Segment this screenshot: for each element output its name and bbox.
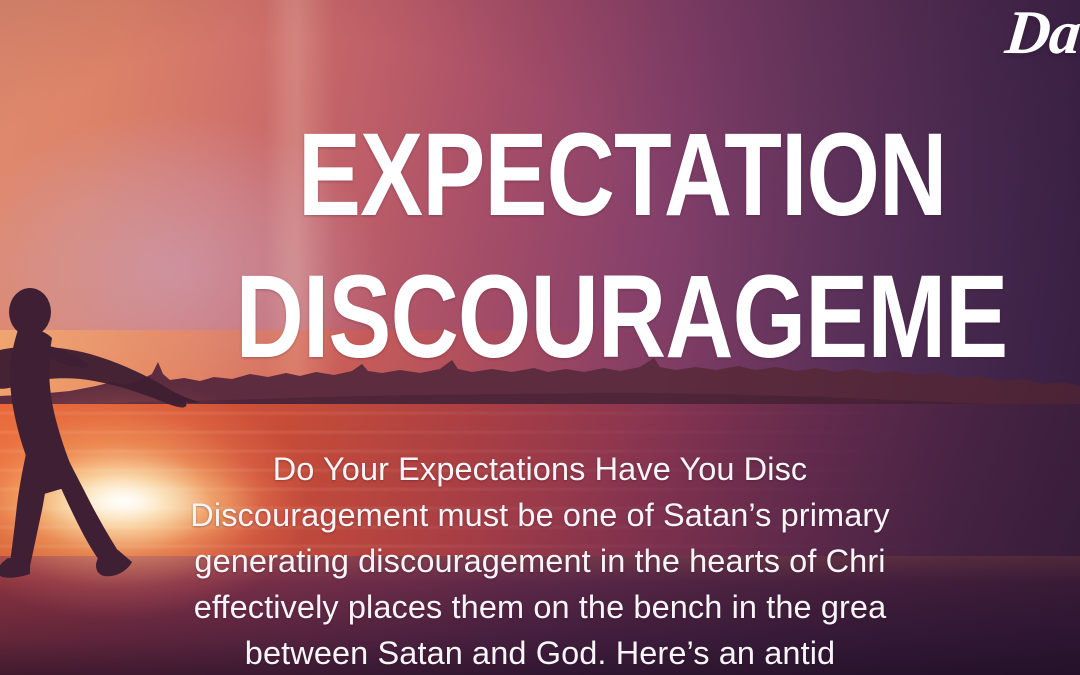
headline: EXPECTATION DISCOURAGEME bbox=[298, 104, 1080, 388]
banner-graphic: Dav EXPECTATION DISCOURAGEME Do Your Exp… bbox=[0, 0, 1080, 675]
body-line-5: between Satan and God. Here’s an antid bbox=[0, 630, 1080, 675]
headline-line-1: EXPECTATION bbox=[298, 104, 1080, 246]
body-line-1: Do Your Expectations Have You Disc bbox=[0, 446, 1080, 492]
body-copy: Do Your Expectations Have You Disc Disco… bbox=[0, 446, 1080, 675]
brand-logo: Dav bbox=[1002, 2, 1080, 64]
body-line-3: generating discouragement in the hearts … bbox=[0, 538, 1080, 584]
headline-line-2: DISCOURAGEME bbox=[236, 246, 1080, 388]
body-line-2: Discouragement must be one of Satan’s pr… bbox=[0, 492, 1080, 538]
body-line-4: effectively places them on the bench in … bbox=[0, 584, 1080, 630]
